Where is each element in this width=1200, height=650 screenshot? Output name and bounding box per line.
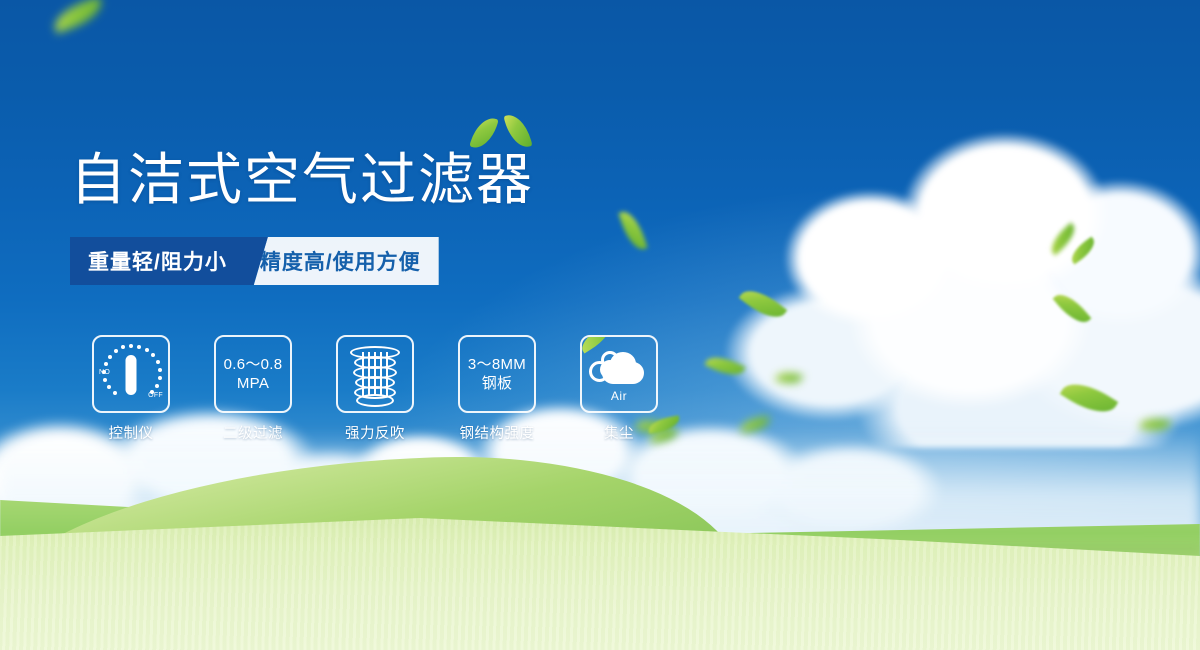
wind-swirl-icon xyxy=(601,351,619,369)
cloud-air-icon: Air xyxy=(588,348,650,400)
dial-knob-icon xyxy=(126,355,137,395)
pressure-line-1: 0.6～0.8 xyxy=(224,356,283,373)
coil-filter-icon xyxy=(349,346,401,402)
subtitle-left-text: 重量轻/阻力小 xyxy=(70,237,243,285)
feature-item-control[interactable]: NO OFF 控制仪 xyxy=(70,335,192,443)
steel-line-1: 3～8MM xyxy=(468,356,526,373)
air-label: Air xyxy=(588,389,650,403)
pressure-line-2: MPA xyxy=(224,374,283,393)
feature-label: 强力反吹 xyxy=(345,422,405,443)
dial-off-label: OFF xyxy=(148,392,163,399)
pressure-text-icon: 0.6～0.8 MPA xyxy=(224,355,283,393)
feature-list: NO OFF 控制仪 0.6～0.8 MPA 二级过滤 xyxy=(70,335,680,443)
feature-label: 集尘 xyxy=(604,422,634,443)
feature-icon-box: Air xyxy=(580,335,658,413)
feature-label: 钢结构强度 xyxy=(460,422,535,443)
feature-icon-box: 3～8MM 钢板 xyxy=(458,335,536,413)
feature-label: 控制仪 xyxy=(109,422,154,443)
subtitle-right-text: 精度高/使用方便 xyxy=(254,237,439,285)
feature-item-blowback[interactable]: 强力反吹 xyxy=(314,335,436,443)
feature-icon-box: 0.6～0.8 MPA xyxy=(214,335,292,413)
dial-no-label: NO xyxy=(99,369,110,376)
steel-plate-text-icon: 3～8MM 钢板 xyxy=(468,355,526,393)
feature-icon-box: NO OFF xyxy=(92,335,170,413)
feature-item-pressure[interactable]: 0.6～0.8 MPA 二级过滤 xyxy=(192,335,314,443)
control-dial-icon: NO OFF xyxy=(100,343,162,405)
page-title: 自洁式空气过滤器 xyxy=(70,148,534,212)
subtitle-bar: 重量轻/阻力小 精度高/使用方便 xyxy=(70,237,439,285)
feature-item-steel[interactable]: 3～8MM 钢板 钢结构强度 xyxy=(436,335,558,443)
feature-label: 二级过滤 xyxy=(223,422,283,443)
air-filter-hero-banner: 自洁式空气过滤器 重量轻/阻力小 精度高/使用方便 xyxy=(0,0,1200,650)
feature-icon-box xyxy=(336,335,414,413)
steel-line-2: 钢板 xyxy=(468,374,526,393)
